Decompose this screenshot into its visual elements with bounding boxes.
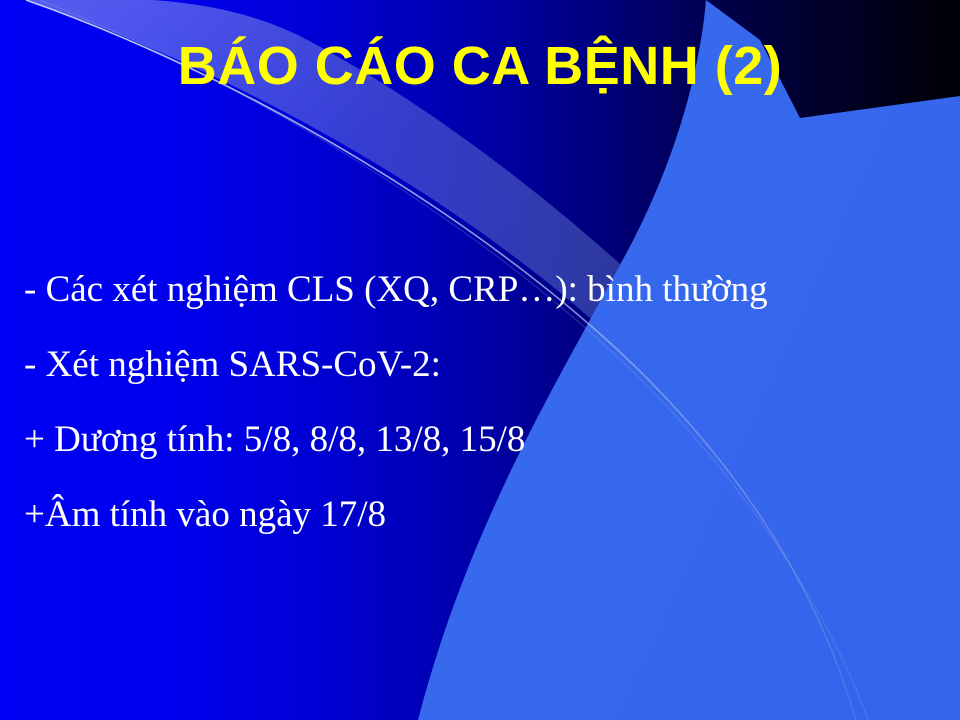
slide-title-block: BÁO CÁO CA BỆNH (2) — [0, 38, 960, 95]
slide-body-block: - Các xét nghiệm CLS (XQ, CRP…): bình th… — [24, 252, 936, 552]
slide-title: BÁO CÁO CA BỆNH (2) — [178, 38, 783, 95]
body-line-1: - Các xét nghiệm CLS (XQ, CRP…): bình th… — [24, 252, 936, 327]
body-line-3: + Dương tính: 5/8, 8/8, 13/8, 15/8 — [24, 402, 936, 477]
body-line-4: +Âm tính vào ngày 17/8 — [24, 477, 936, 552]
presentation-slide: BÁO CÁO CA BỆNH (2) - Các xét nghiệm CLS… — [0, 0, 960, 720]
body-line-2: - Xét nghiệm SARS-CoV-2: — [24, 327, 936, 402]
